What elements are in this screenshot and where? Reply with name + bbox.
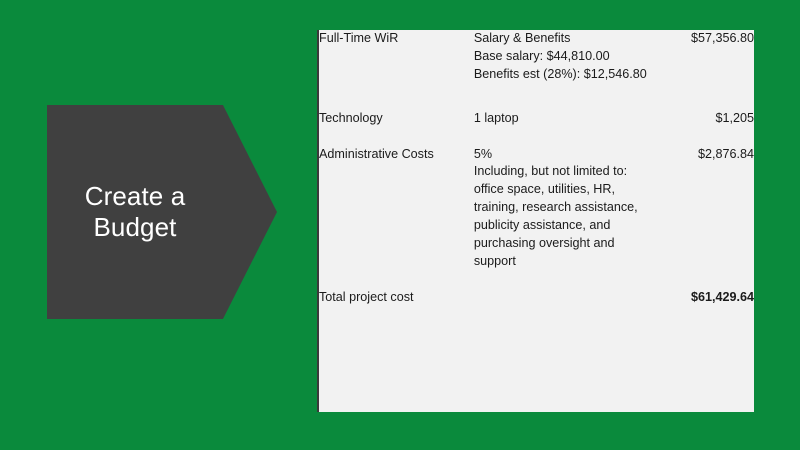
row-label: Full-Time WiR [319,30,474,84]
row-amount: $1,205 [652,110,754,128]
row-detail-sub: Base salary: $44,810.00 Benefits est (28… [474,48,652,84]
row-detail-main: 5% [474,146,652,164]
row-label: Administrative Costs [319,146,474,271]
row-detail-sub: Including, but not limited to: office sp… [474,163,652,270]
row-amount: $57,356.80 [652,30,754,84]
row-amount: $2,876.84 [652,146,754,271]
total-label: Total project cost [319,289,474,307]
spacer-cell [474,271,652,289]
chevron-shape[interactable]: Create a Budget [47,105,277,319]
row-detail-main: 1 laptop [474,110,652,128]
total-detail [474,289,652,307]
row-detail: 1 laptop [474,110,652,128]
budget-panel: Full-Time WiR Salary & Benefits Base sal… [317,30,754,412]
row-detail: Salary & Benefits Base salary: $44,810.0… [474,30,652,84]
row-spacer [319,128,754,146]
spacer-cell [474,84,652,110]
budget-table: Full-Time WiR Salary & Benefits Base sal… [319,30,754,307]
row-detail-main: Salary & Benefits [474,30,652,48]
spacer-cell [652,271,754,289]
spacer-cell [652,128,754,146]
spacer-cell [652,84,754,110]
row-spacer [319,84,754,110]
table-row: Technology 1 laptop $1,205 [319,110,754,128]
total-amount: $61,429.64 [652,289,754,307]
spacer-cell [319,128,474,146]
spacer-cell [474,128,652,146]
spacer-cell [319,271,474,289]
table-row-total: Total project cost $61,429.64 [319,289,754,307]
row-detail: 5% Including, but not limited to: office… [474,146,652,271]
slide-canvas: Create a Budget Full-Time WiR Salary & B… [0,0,800,450]
row-label: Technology [319,110,474,128]
spacer-cell [319,84,474,110]
table-row: Administrative Costs 5% Including, but n… [319,146,754,271]
table-row: Full-Time WiR Salary & Benefits Base sal… [319,30,754,84]
chevron-title: Create a Budget [47,181,223,243]
row-spacer [319,271,754,289]
